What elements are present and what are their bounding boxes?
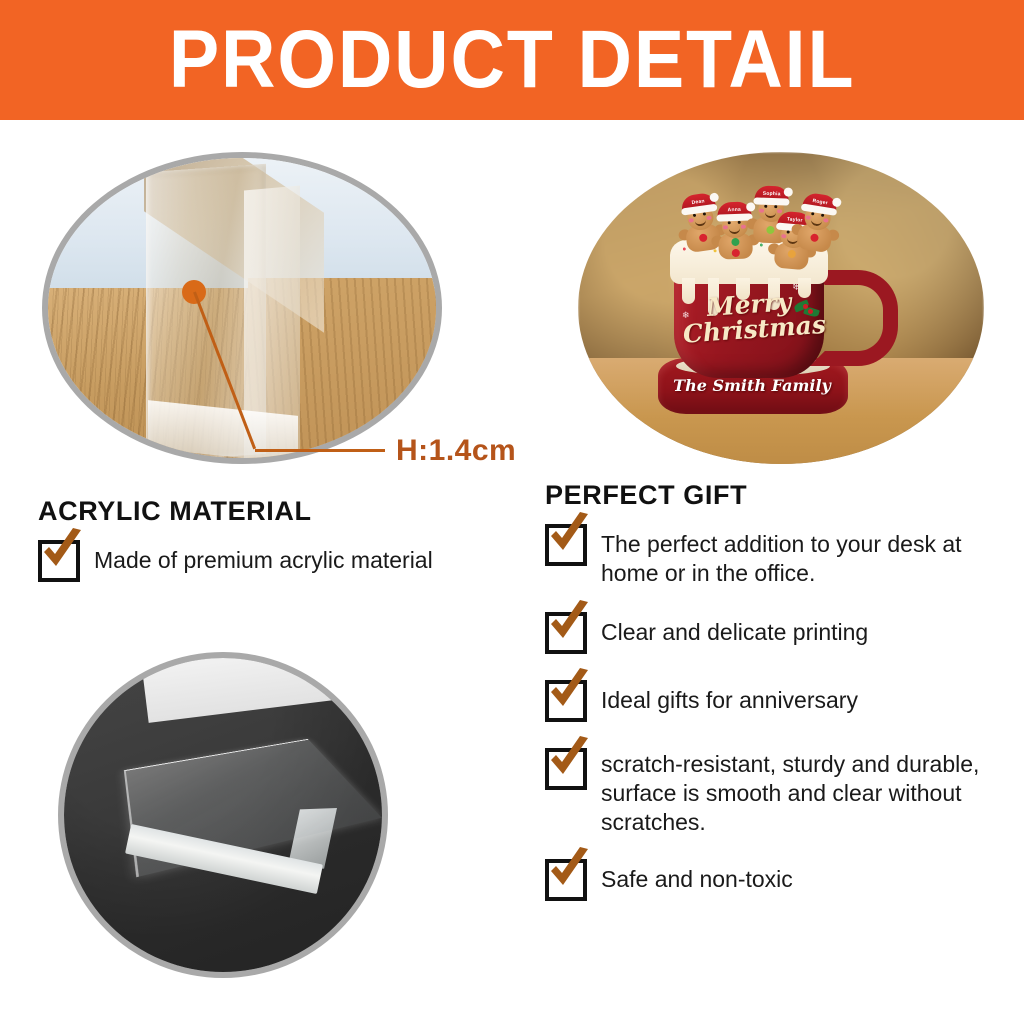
mug-greeting-text: Merry Christmas bbox=[680, 287, 819, 346]
feature-list-acrylic-material: Made of premium acrylic material bbox=[38, 540, 518, 582]
height-dimension-label: H:1.4cm bbox=[396, 434, 516, 468]
checkbox-checked-icon[interactable] bbox=[545, 748, 587, 790]
feature-item: Ideal gifts for anniversary bbox=[545, 680, 1005, 722]
feature-text: scratch-resistant, sturdy and durable, s… bbox=[601, 748, 1005, 837]
feature-text: Safe and non-toxic bbox=[601, 859, 793, 894]
checkbox-checked-icon[interactable] bbox=[545, 859, 587, 901]
checkbox-checked-icon[interactable] bbox=[545, 680, 587, 722]
checkmark-icon bbox=[39, 528, 85, 576]
mug-family-name-text: The Smith Family bbox=[672, 376, 832, 395]
section-heading-perfect-gift: PERFECT GIFT bbox=[545, 480, 747, 511]
acrylic-block-on-slate-photo bbox=[58, 652, 388, 978]
feature-item: Made of premium acrylic material bbox=[38, 540, 518, 582]
feature-list-perfect-gift: The perfect addition to your desk at hom… bbox=[545, 524, 1005, 901]
checkbox-checked-icon[interactable] bbox=[545, 524, 587, 566]
checkbox-checked-icon[interactable] bbox=[38, 540, 80, 582]
checkmark-icon bbox=[546, 847, 592, 895]
checkbox-checked-icon[interactable] bbox=[545, 612, 587, 654]
gingerbread-figure: Roger bbox=[790, 191, 844, 254]
feature-item: Clear and delicate printing bbox=[545, 612, 1005, 654]
feature-item: scratch-resistant, sturdy and durable, s… bbox=[545, 748, 1005, 837]
checkmark-icon bbox=[546, 668, 592, 716]
feature-item: Safe and non-toxic bbox=[545, 859, 1005, 901]
checkmark-icon bbox=[546, 600, 592, 648]
checkmark-icon bbox=[546, 736, 592, 784]
section-heading-acrylic-material: ACRYLIC MATERIAL bbox=[38, 496, 312, 527]
page-header-banner: PRODUCT DETAIL bbox=[0, 0, 1024, 120]
feature-text: Clear and delicate printing bbox=[601, 612, 868, 647]
feature-text: Ideal gifts for anniversary bbox=[601, 680, 858, 715]
page-title: PRODUCT DETAIL bbox=[169, 17, 856, 103]
checkmark-icon bbox=[546, 512, 592, 560]
feature-item: The perfect addition to your desk at hom… bbox=[545, 524, 1005, 588]
callout-leader-line-horizontal bbox=[255, 449, 385, 452]
feature-text: The perfect addition to your desk at hom… bbox=[601, 524, 1001, 588]
christmas-mug-ornament-photo: ❄ ❄ ❄ ❄ Dean Anna bbox=[578, 152, 984, 464]
feature-text: Made of premium acrylic material bbox=[94, 540, 433, 575]
